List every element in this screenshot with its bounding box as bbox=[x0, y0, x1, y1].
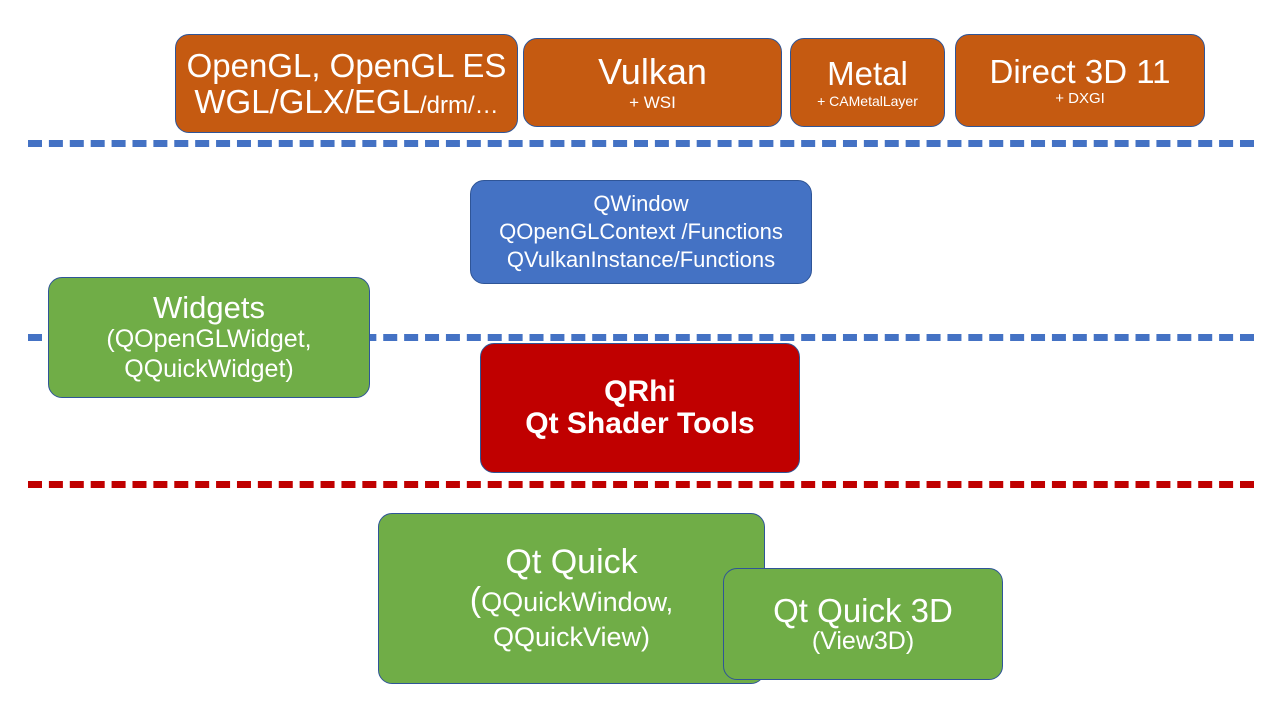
node-opengl-subtitle-small: /drm/… bbox=[420, 92, 499, 119]
separator-native-api-boundary bbox=[28, 140, 1254, 147]
node-opengl-title: OpenGL, OpenGL ES bbox=[187, 48, 507, 84]
node-qwindow-line-3: QVulkanInstance/Functions bbox=[507, 246, 775, 274]
node-qt-quick-subtitle-text-1: QQuickWindow, bbox=[481, 587, 673, 617]
node-opengl[interactable]: OpenGL, OpenGL ES WGL/GLX/EGL/drm/… bbox=[175, 34, 518, 133]
node-qt-quick-3d[interactable]: Qt Quick 3D (View3D) bbox=[723, 568, 1003, 680]
node-metal[interactable]: Metal + CAMetalLayer bbox=[790, 38, 945, 127]
node-vulkan-subtitle: + WSI bbox=[629, 94, 676, 112]
node-qwindow[interactable]: QWindow QOpenGLContext /Functions QVulka… bbox=[470, 180, 812, 284]
node-qt-quick-3d-title: Qt Quick 3D bbox=[773, 593, 953, 629]
node-qrhi-title: QRhi bbox=[604, 376, 676, 408]
node-opengl-subtitle-main: WGL/GLX/EGL bbox=[194, 83, 420, 120]
node-qwindow-line-2: QOpenGLContext /Functions bbox=[499, 218, 783, 246]
node-widgets-subtitle-line-2: QQuickWidget) bbox=[124, 354, 293, 384]
node-qt-quick-title: Qt Quick bbox=[505, 544, 637, 581]
node-direct3d11-title: Direct 3D 11 bbox=[990, 54, 1171, 90]
diagram-canvas: OpenGL, OpenGL ES WGL/GLX/EGL/drm/… Vulk… bbox=[0, 0, 1280, 720]
node-qrhi[interactable]: QRhi Qt Shader Tools bbox=[480, 343, 800, 473]
node-direct3d11[interactable]: Direct 3D 11 + DXGI bbox=[955, 34, 1205, 127]
node-metal-title: Metal bbox=[827, 56, 908, 92]
node-qwindow-line-1: QWindow bbox=[593, 190, 688, 218]
separator-rhi-lower-boundary bbox=[28, 481, 1254, 488]
node-qt-quick-3d-subtitle: (View3D) bbox=[812, 628, 914, 655]
node-widgets[interactable]: Widgets (QOpenGLWidget, QQuickWidget) bbox=[48, 277, 370, 398]
node-vulkan[interactable]: Vulkan + WSI bbox=[523, 38, 782, 127]
node-qt-quick-open-paren: ( bbox=[470, 581, 481, 619]
node-qt-quick[interactable]: Qt Quick (QQuickWindow, QQuickView) bbox=[378, 513, 765, 684]
node-metal-subtitle: + CAMetalLayer bbox=[817, 94, 918, 109]
node-qrhi-subtitle: Qt Shader Tools bbox=[525, 408, 754, 440]
node-opengl-subtitle: WGL/GLX/EGL/drm/… bbox=[194, 84, 498, 120]
node-qt-quick-subtitle-line-2: QQuickView) bbox=[493, 621, 650, 653]
node-widgets-title: Widgets bbox=[153, 291, 265, 324]
node-direct3d11-subtitle: + DXGI bbox=[1055, 91, 1105, 107]
node-qt-quick-subtitle-line-1: (QQuickWindow, bbox=[470, 580, 673, 621]
node-vulkan-title: Vulkan bbox=[598, 53, 707, 92]
node-widgets-subtitle-line-1: (QOpenGLWidget, bbox=[106, 324, 311, 354]
